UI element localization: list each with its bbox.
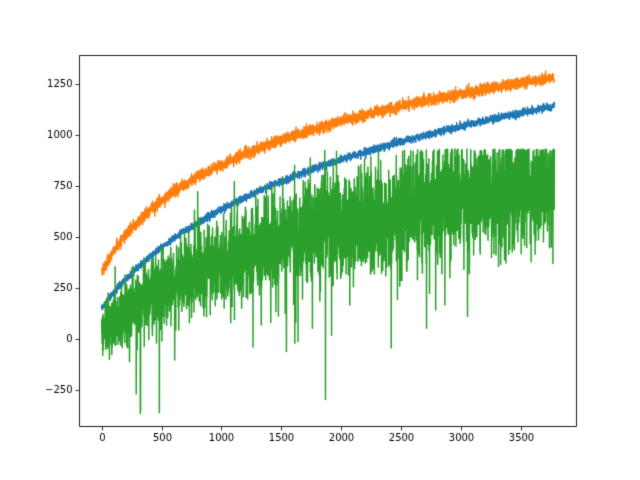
matplotlib-figure: 0500100015002000250030003500−25002505007… — [0, 0, 640, 480]
line-chart-canvas — [0, 0, 640, 480]
